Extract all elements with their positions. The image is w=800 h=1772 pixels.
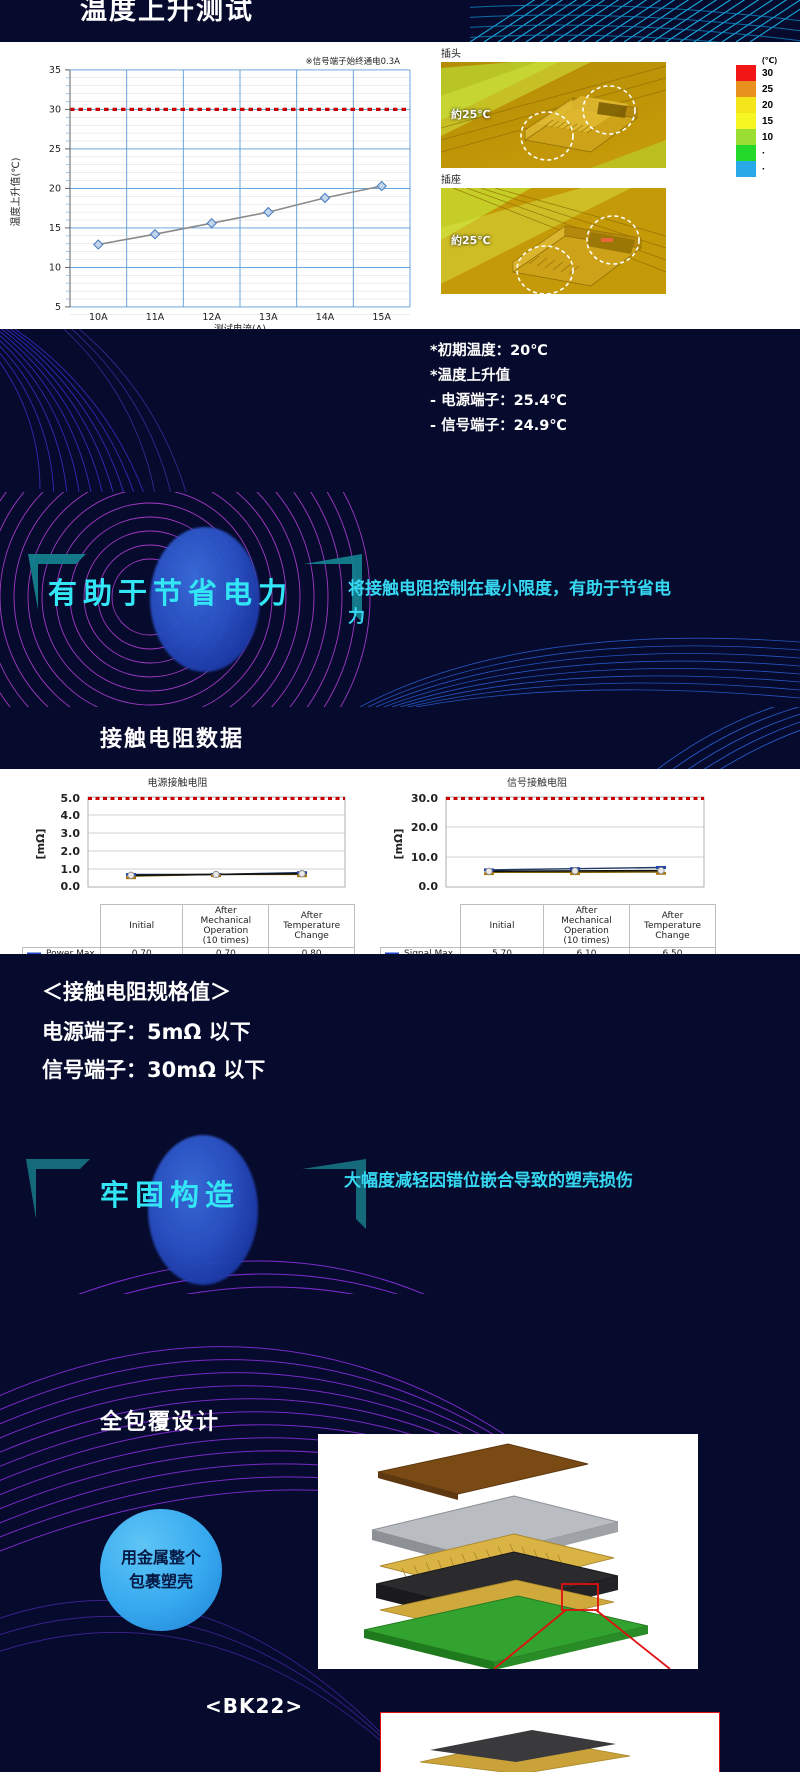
keyword-description-save-power: 将接触电阻控制在最小限度，有助于节省电力: [348, 575, 683, 631]
thermal-image-socket: 約25℃: [441, 188, 666, 294]
bracket-left-icon: [22, 1155, 94, 1233]
ytick-0.0: 0.0: [61, 880, 81, 893]
full-cover-heading: 全包覆设计: [100, 1404, 220, 1436]
thermal-image-plug: 約25℃: [441, 62, 666, 168]
spec-title: ＜接触电阻规格值＞: [42, 976, 231, 1006]
y-tick-35: 35: [49, 65, 61, 76]
power-contact-resistance-chart: 电源接触电阻 5.0 4.0 3.0 2.0 1.0 0.0 [mΩ]: [0, 769, 355, 954]
scale-swatch: [736, 97, 756, 113]
note-line-rise-title: *温度上升值: [430, 364, 567, 389]
thermal-plug-temp: 約25℃: [451, 106, 491, 122]
y-tick-10: 10: [49, 263, 61, 274]
page-title: 温度上升测试: [80, 0, 254, 27]
header-initial: Initial: [100, 905, 183, 948]
power-y-axis-label: [mΩ]: [34, 829, 47, 860]
part-name-label: <BK22>: [205, 1694, 303, 1718]
temperature-rise-svg: ※信号端子始终通电0.3A: [0, 42, 434, 329]
connector-3d-render: [318, 1434, 698, 1669]
scale-row: 30: [736, 65, 794, 81]
signal-y-axis-label: [mΩ]: [392, 829, 405, 860]
thermal-images-panel: 插头: [435, 42, 800, 329]
scale-tick: 15: [762, 116, 773, 127]
badge-line-1: 用金属整个: [121, 1548, 201, 1567]
scale-tick: 10: [762, 132, 773, 143]
ytick-0.0: 0.0: [419, 880, 439, 893]
ytick-4.0: 4.0: [61, 809, 81, 822]
x-tick-15A: 15A: [372, 312, 391, 323]
scale-swatch: [736, 145, 756, 161]
spec-signal: 信号端子：30mΩ 以下: [42, 1054, 265, 1084]
chart-note: ※信号端子始终通电0.3A: [306, 56, 401, 67]
x-tick-10A: 10A: [89, 312, 108, 323]
connector-detail-render: [380, 1712, 720, 1772]
ytick-5.0: 5.0: [61, 792, 81, 805]
signal-contact-resistance-chart: 信号接触电阻 30.0 20.0 10.0 0.0 [mΩ]: [358, 769, 716, 954]
y-axis-label: 温度上升值(℃): [9, 157, 22, 226]
table-header-row: Initial AfterMechanicalOperation(10 time…: [381, 905, 716, 948]
x-tick-14A: 14A: [316, 312, 335, 323]
note-line-power-terminal: - 电源端子：25.4℃: [430, 389, 567, 414]
power-chart-title: 电源接触电阻: [0, 769, 355, 789]
connector-3d-svg: [318, 1434, 698, 1669]
x-tick-13A: 13A: [259, 312, 278, 323]
scale-tick: ·: [762, 164, 765, 175]
keyword-save-power: 有助于节省电力: [48, 570, 293, 612]
table-header-row: Initial AfterMechanicalOperation(10 time…: [23, 905, 355, 948]
ytick-30.0: 30.0: [411, 792, 438, 805]
solid-structure-section: 牢固构造 大幅度减轻因错位嵌合导致的塑壳损伤: [0, 1119, 800, 1294]
header-initial: Initial: [461, 905, 544, 948]
scale-swatch: [736, 65, 756, 81]
thermal-socket-temp: 約25℃: [451, 232, 491, 248]
header-after-mechanical: AfterMechanicalOperation(10 times): [544, 905, 630, 948]
scale-tick: 30: [762, 68, 773, 79]
note-line-signal-terminal: - 信号端子：24.9℃: [430, 414, 567, 439]
scale-row: 25: [736, 81, 794, 97]
ytick-2.0: 2.0: [61, 845, 81, 858]
badge-line-2: 包裹塑壳: [129, 1572, 193, 1591]
keyword-solid-structure: 牢固构造: [100, 1172, 240, 1214]
ytick-20.0: 20.0: [411, 821, 438, 834]
signal-chart-svg: 30.0 20.0 10.0 0.0 [mΩ]: [358, 789, 716, 899]
metal-cover-badge: 用金属整个 包裹塑壳: [100, 1509, 222, 1631]
x-tick-11A: 11A: [146, 312, 165, 323]
resistance-charts-panel: 电源接触电阻 5.0 4.0 3.0 2.0 1.0 0.0 [mΩ]: [0, 769, 800, 954]
scale-row: 10: [736, 129, 794, 145]
decorative-arcs-left: [0, 329, 430, 492]
x-tick-12A: 12A: [202, 312, 221, 323]
header-empty: [381, 905, 461, 948]
badge-text: 用金属整个 包裹塑壳: [121, 1546, 201, 1594]
header-after-temperature: AfterTemperatureChange: [630, 905, 716, 948]
resistance-spec-section: ＜接触电阻规格值＞ 电源端子：5mΩ 以下 信号端子：30mΩ 以下: [0, 954, 800, 1119]
temperature-rise-chart: ※信号端子始终通电0.3A: [0, 42, 434, 329]
save-power-section: 有助于节省电力 将接触电阻控制在最小限度，有助于节省电力: [0, 492, 800, 707]
scale-tick: 20: [762, 100, 773, 111]
ytick-1.0: 1.0: [61, 863, 81, 876]
scale-row: 15: [736, 113, 794, 129]
ytick-10.0: 10.0: [411, 851, 438, 864]
y-tick-30: 30: [49, 105, 61, 116]
y-tick-25: 25: [49, 144, 61, 155]
scale-tick: 25: [762, 84, 773, 95]
scale-row: 20: [736, 97, 794, 113]
scale-unit-label: (℃): [762, 56, 794, 65]
header-after-temperature: AfterTemperatureChange: [269, 905, 355, 948]
scale-swatch: [736, 129, 756, 145]
temperature-rise-panel: ※信号端子始终通电0.3A: [0, 42, 800, 329]
temperature-notes: *初期温度：20℃ *温度上升值 - 电源端子：25.4℃ - 信号端子：24.…: [430, 339, 567, 439]
keyword-description-solid-structure: 大幅度减轻因错位嵌合导致的塑壳损伤: [344, 1167, 694, 1195]
note-line-initial-temp: *初期温度：20℃: [430, 339, 567, 364]
spec-power: 电源端子：5mΩ 以下: [42, 1016, 251, 1046]
scale-swatch: [736, 161, 756, 177]
header-after-mechanical: AfterMechanicalOperation(10 times): [183, 905, 269, 948]
y-tick-20: 20: [49, 184, 61, 195]
y-tick-15: 15: [49, 223, 61, 234]
scale-tick: ·: [762, 148, 765, 159]
decorative-rays-topright: [470, 0, 800, 42]
signal-chart-title: 信号接触电阻: [358, 769, 716, 789]
resistance-heading-band: 接触电阻数据: [0, 707, 800, 769]
full-cover-design-section: 全包覆设计 用金属整个 包裹塑壳 <BK22>: [0, 1294, 800, 1772]
temperature-notes-section: *初期温度：20℃ *温度上升值 - 电源端子：25.4℃ - 信号端子：24.…: [0, 329, 800, 492]
temperature-rise-title-bar: 温度上升测试: [0, 0, 800, 42]
scale-swatch: [736, 113, 756, 129]
temperature-color-scale: (℃) 30 25 20 15 10 · ·: [736, 56, 794, 177]
header-empty: [23, 905, 101, 948]
ytick-3.0: 3.0: [61, 827, 81, 840]
scale-row: ·: [736, 145, 794, 161]
y-tick-5: 5: [55, 302, 61, 313]
connector-detail-svg: [380, 1712, 720, 1772]
resistance-data-heading: 接触电阻数据: [100, 721, 244, 753]
power-chart-svg: 5.0 4.0 3.0 2.0 1.0 0.0 [mΩ]: [0, 789, 355, 899]
scale-row: ·: [736, 161, 794, 177]
scale-swatch: [736, 81, 756, 97]
